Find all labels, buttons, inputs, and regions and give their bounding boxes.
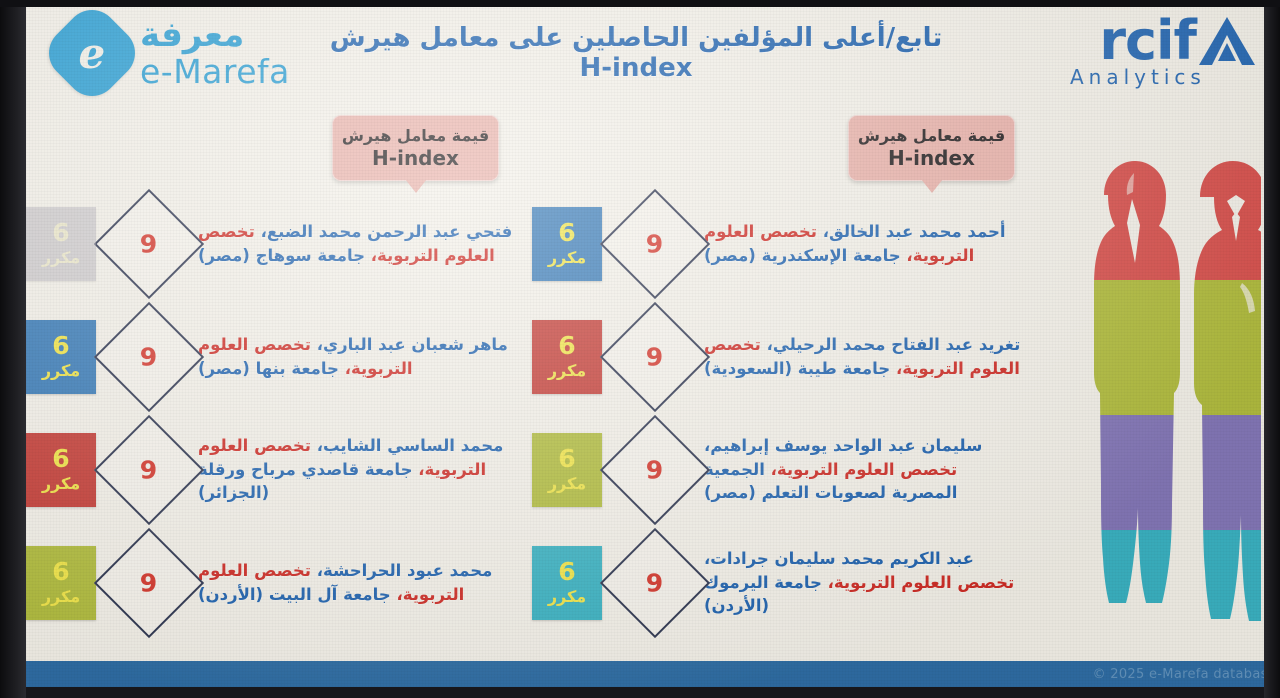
author-name: ماهر شعبان عبد الباري، (317, 335, 508, 354)
author-name: تغريد عبد الفتاح محمد الرحيلي، (767, 335, 1021, 354)
arcif-logo-row: rcif (1036, 15, 1256, 67)
rank-value-label: مكرر (548, 361, 586, 380)
author-entry: تغريد عبد الفتاح محمد الرحيلي، تخصص العل… (512, 300, 1022, 413)
author-entry-text: محمد الساسي الشايب، تخصص العلوم التربوية… (192, 434, 516, 504)
callout-right-latin: H-index (888, 146, 975, 170)
callout-h-index-left: قيمة معامل هيرش H-index (332, 115, 499, 181)
h-index-diamond: 9 (94, 527, 204, 637)
author-entry-text: فتحي عبد الرحمن محمد الضبع، تخصص العلوم … (192, 220, 516, 267)
rank-value-box: 6مكرر (26, 207, 96, 281)
callout-left-arabic: قيمة معامل هيرش (342, 126, 489, 145)
rank-value-label: مكرر (42, 474, 80, 493)
emarefa-latin-name: e-Marefa (140, 55, 290, 88)
h-index-value: 9 (646, 342, 663, 371)
author-affiliation: جامعة بنها (مصر) (198, 359, 345, 378)
h-index-value: 9 (140, 455, 157, 484)
rank-value-box: 6مكرر (532, 546, 602, 620)
callout-left-latin: H-index (372, 146, 459, 170)
emarefa-logo-text: معرفة e-Marefa (140, 18, 290, 88)
presentation-slide: معرفة e-Marefa e تابع/أعلى المؤلفين الحا… (26, 7, 1264, 687)
footer-copyright: © 2025 e-Marefa database (1093, 667, 1264, 682)
slide-footer: © 2025 e-Marefa database (26, 661, 1264, 687)
callout-h-index-right: قيمة معامل هيرش H-index (848, 115, 1015, 181)
author-affiliation: جامعة قاصدي مرباح ورقلة (الجزائر) (198, 460, 418, 502)
h-index-value: 9 (140, 229, 157, 258)
author-entry-text: ماهر شعبان عبد الباري، تخصص العلوم الترب… (192, 333, 516, 380)
arcif-logo: rcif Analytics (1036, 15, 1256, 89)
arcif-wordmark: rcif (1099, 15, 1196, 66)
emarefa-logo: معرفة e-Marefa e (54, 15, 290, 91)
h-index-value: 9 (140, 342, 157, 371)
author-name: عبد الكريم محمد سليمان جرادات، (704, 549, 974, 568)
h-index-diamond: 9 (94, 414, 204, 524)
author-name: سليمان عبد الواحد يوسف إبراهيم، (704, 436, 982, 455)
arcif-triangle-a-icon (1198, 15, 1256, 67)
author-entry-text: محمد عبود الحراحشة، تخصص العلوم التربوية… (192, 559, 516, 606)
author-name: أحمد محمد عبد الخالق، (823, 222, 1006, 241)
author-entry: سليمان عبد الواحد يوسف إبراهيم، تخصص الع… (512, 413, 1022, 526)
rank-value-number: 6 (558, 333, 575, 359)
author-affiliation: جامعة اليرموك (الأردن) (704, 573, 828, 615)
rank-value-number: 6 (558, 220, 575, 246)
rank-value-label: مكرر (42, 587, 80, 606)
author-entry: أحمد محمد عبد الخالق، تخصص العلوم التربو… (512, 187, 1022, 300)
h-index-diamond: 9 (600, 188, 710, 298)
monitor-bezel-left (0, 0, 26, 698)
callout-right-arabic: قيمة معامل هيرش (858, 126, 1005, 145)
rank-value-box: 6مكرر (26, 433, 96, 507)
h-index-diamond: 9 (600, 414, 710, 524)
emarefa-mark-glyph: e (79, 29, 106, 78)
rank-value-box: 6مكرر (26, 546, 96, 620)
rank-value-box: 6مكرر (532, 320, 602, 394)
page-title-latin: H-index (580, 53, 693, 83)
page-title-arabic: تابع/أعلى المؤلفين الحاصلين على معامل هي… (330, 23, 942, 53)
author-affiliation: جامعة طيبة (السعودية) (704, 359, 896, 378)
slide-header: معرفة e-Marefa e تابع/أعلى المؤلفين الحا… (26, 7, 1264, 111)
emarefa-diamond-icon: e (38, 7, 145, 107)
author-entry: فتحي عبد الرحمن محمد الضبع، تخصص العلوم … (26, 187, 516, 300)
rank-value-number: 6 (558, 446, 575, 472)
h-index-value: 9 (646, 568, 663, 597)
author-specialty: تخصص العلوم التربوية، (828, 573, 1015, 592)
page-title: تابع/أعلى المؤلفين الحاصلين على معامل هي… (326, 23, 946, 83)
h-index-value: 9 (646, 455, 663, 484)
author-affiliation: جامعة سوهاج (مصر) (198, 246, 371, 265)
rank-value-label: مكرر (42, 361, 80, 380)
emarefa-arabic-name: معرفة (140, 18, 244, 52)
author-entry: ماهر شعبان عبد الباري، تخصص العلوم الترب… (26, 300, 516, 413)
author-specialty: تخصص العلوم التربوية، (771, 460, 958, 479)
rank-value-box: 6مكرر (532, 207, 602, 281)
rank-value-label: مكرر (42, 248, 80, 267)
author-name: محمد الساسي الشايب، (317, 436, 504, 455)
author-entry-text: عبد الكريم محمد سليمان جرادات، تخصص العل… (698, 547, 1022, 617)
rank-value-number: 6 (558, 559, 575, 585)
author-affiliation: جامعة الإسكندرية (مصر) (704, 246, 906, 265)
author-entry-text: تغريد عبد الفتاح محمد الرحيلي، تخصص العل… (698, 333, 1022, 380)
rank-value-number: 6 (52, 220, 69, 246)
screen-frame: معرفة e-Marefa e تابع/أعلى المؤلفين الحا… (0, 0, 1280, 698)
rank-value-label: مكرر (548, 587, 586, 606)
h-index-diamond: 9 (94, 301, 204, 411)
h-index-value: 9 (646, 229, 663, 258)
author-entry-text: سليمان عبد الواحد يوسف إبراهيم، تخصص الع… (698, 434, 1022, 504)
author-column-left: فتحي عبد الرحمن محمد الضبع، تخصص العلوم … (26, 187, 516, 639)
rank-value-number: 6 (52, 559, 69, 585)
author-column-right: أحمد محمد عبد الخالق، تخصص العلوم التربو… (512, 187, 1022, 639)
rank-value-number: 6 (52, 446, 69, 472)
author-entry: محمد الساسي الشايب، تخصص العلوم التربوية… (26, 413, 516, 526)
h-index-diamond: 9 (600, 301, 710, 411)
author-name: فتحي عبد الرحمن محمد الضبع، (261, 222, 513, 241)
rank-value-box: 6مكرر (532, 433, 602, 507)
arcif-subtitle: Analytics (1036, 65, 1256, 89)
rank-value-label: مكرر (548, 474, 586, 493)
rank-value-label: مكرر (548, 248, 586, 267)
h-index-value: 9 (140, 568, 157, 597)
author-entry: محمد عبود الحراحشة، تخصص العلوم التربوية… (26, 526, 516, 639)
author-affiliation: جامعة آل البيت (الأردن) (198, 585, 396, 604)
business-people-illustration (1046, 155, 1261, 655)
author-entry: عبد الكريم محمد سليمان جرادات، تخصص العل… (512, 526, 1022, 639)
monitor-bezel-right (1264, 0, 1280, 698)
author-entry-text: أحمد محمد عبد الخالق، تخصص العلوم التربو… (698, 220, 1022, 267)
author-name: محمد عبود الحراحشة، (317, 561, 493, 580)
rank-value-box: 6مكرر (26, 320, 96, 394)
monitor-bezel-top (0, 0, 1280, 7)
h-index-diamond: 9 (600, 527, 710, 637)
rank-value-number: 6 (52, 333, 69, 359)
h-index-diamond: 9 (94, 188, 204, 298)
